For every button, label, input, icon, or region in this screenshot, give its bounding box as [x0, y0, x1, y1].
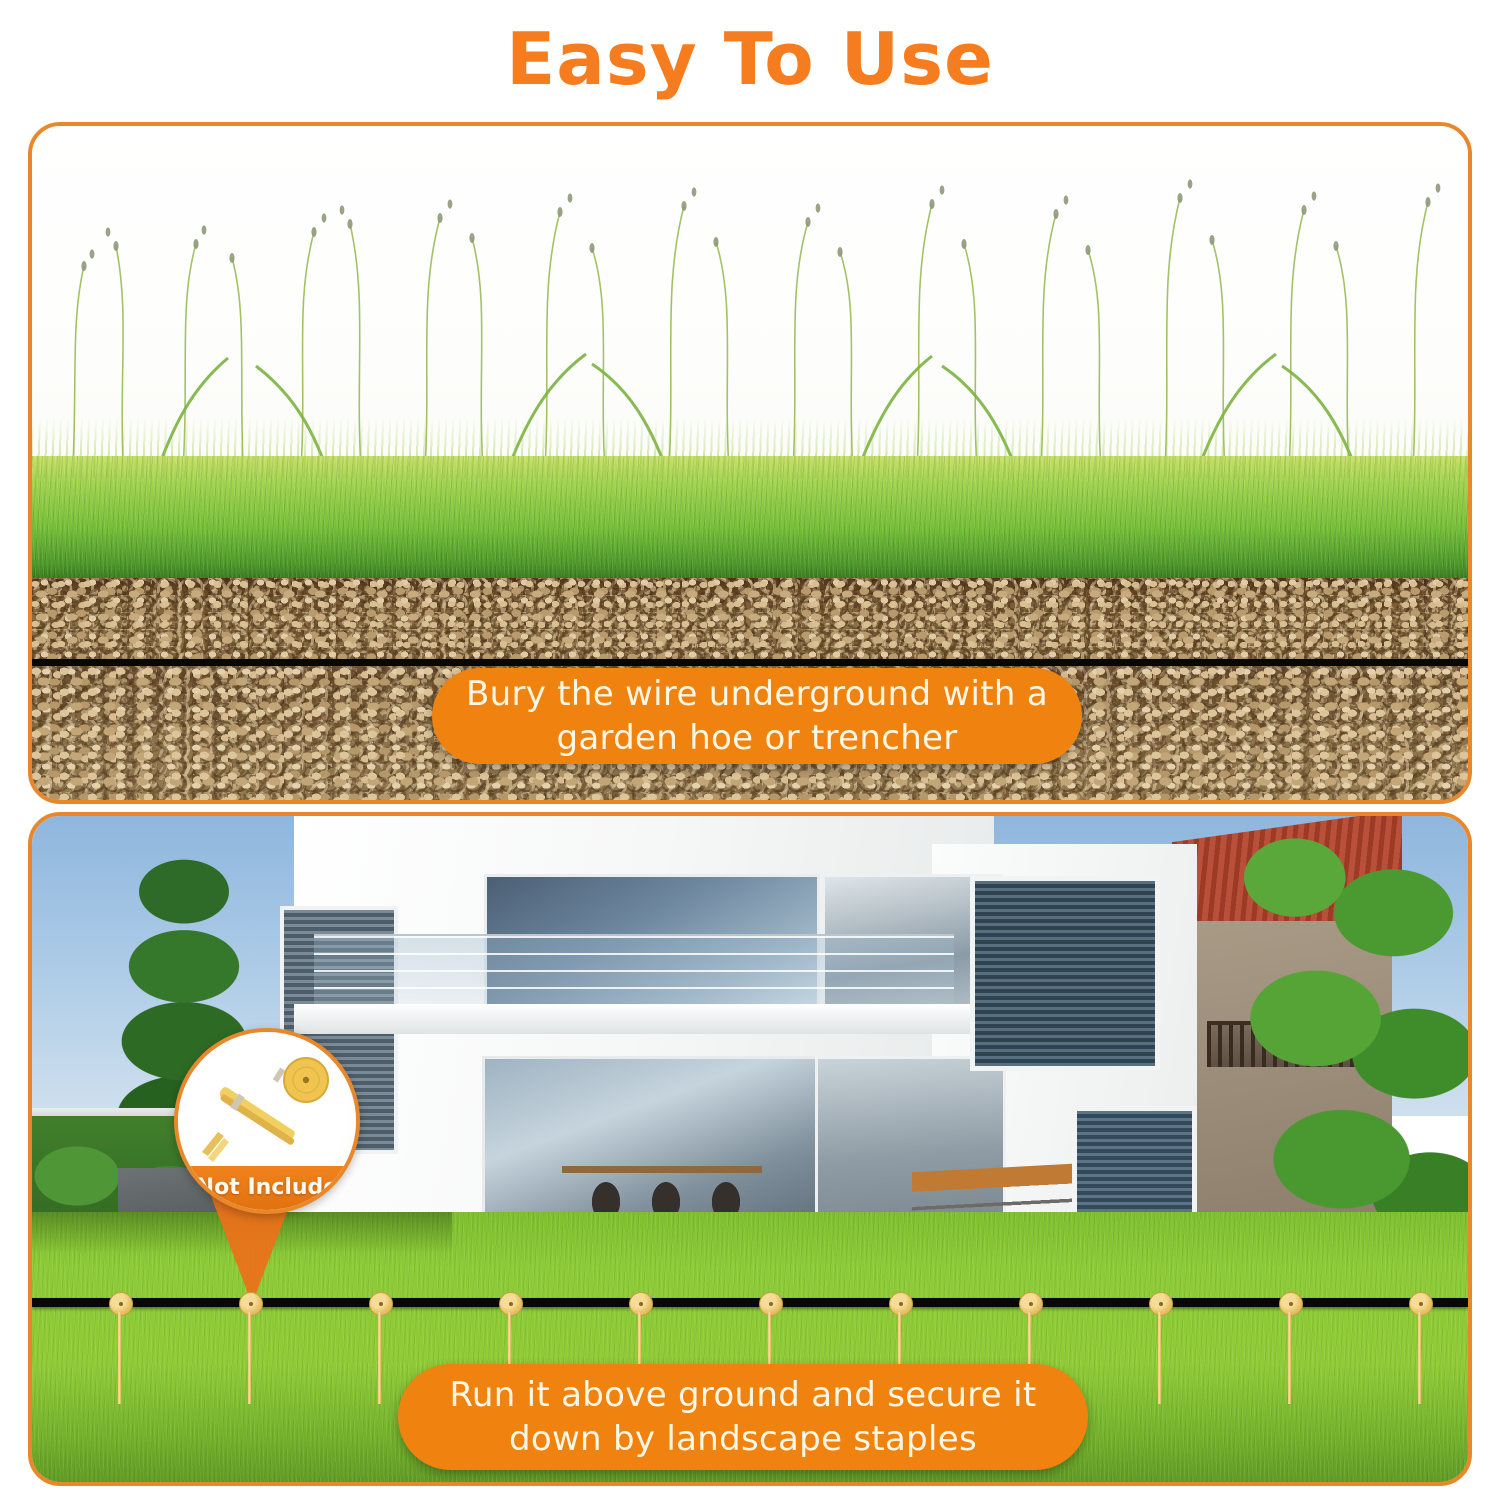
caption-badge-above-ground: Run it above ground and secure it down b…	[398, 1364, 1088, 1470]
staple-head-icon	[1279, 1292, 1303, 1316]
staple-head-icon	[499, 1292, 523, 1316]
soil-upper-layer	[32, 578, 1468, 662]
staple-head-icon	[759, 1292, 783, 1316]
caption-badge-bury: Bury the wire underground with a garden …	[432, 668, 1082, 764]
staple-shaft	[248, 1312, 251, 1404]
landscape-staple	[1409, 1292, 1431, 1404]
landscape-staple	[1149, 1292, 1171, 1404]
staple-head-icon	[1019, 1292, 1043, 1316]
page-title: Easy To Use	[0, 14, 1500, 104]
infographic-page: Easy To Use	[0, 0, 1500, 1500]
not-include-label-band: Not Include	[178, 1166, 356, 1210]
balcony-slab	[294, 1004, 994, 1034]
staple-head-icon	[1149, 1292, 1173, 1316]
staple-shaft	[1158, 1312, 1161, 1404]
staple-head-icon	[889, 1292, 913, 1316]
landscape-staple	[369, 1292, 391, 1404]
staple-head-icon	[109, 1292, 133, 1316]
landscape-staple	[1279, 1292, 1301, 1404]
staple-head-icon	[239, 1292, 263, 1316]
staple-shaft	[1288, 1312, 1291, 1404]
staple-head-icon	[629, 1292, 653, 1316]
not-include-label: Not Include	[196, 1177, 338, 1199]
staple-shaft	[1418, 1312, 1421, 1404]
large-deciduous-tree	[1222, 816, 1472, 1256]
landscape-staple	[239, 1292, 261, 1404]
railing-bars	[314, 936, 954, 1008]
staple-head-icon	[369, 1292, 393, 1316]
staple-shaft	[118, 1312, 121, 1404]
staple-shaft	[378, 1312, 381, 1404]
landscape-staple	[109, 1292, 131, 1404]
balcony-railing	[314, 934, 954, 1008]
staple-head-icon	[1409, 1292, 1433, 1316]
window-blinds-large	[970, 876, 1160, 1071]
staple-closeup-inset: Not Include	[174, 1028, 360, 1214]
turf-layer	[32, 456, 1468, 586]
